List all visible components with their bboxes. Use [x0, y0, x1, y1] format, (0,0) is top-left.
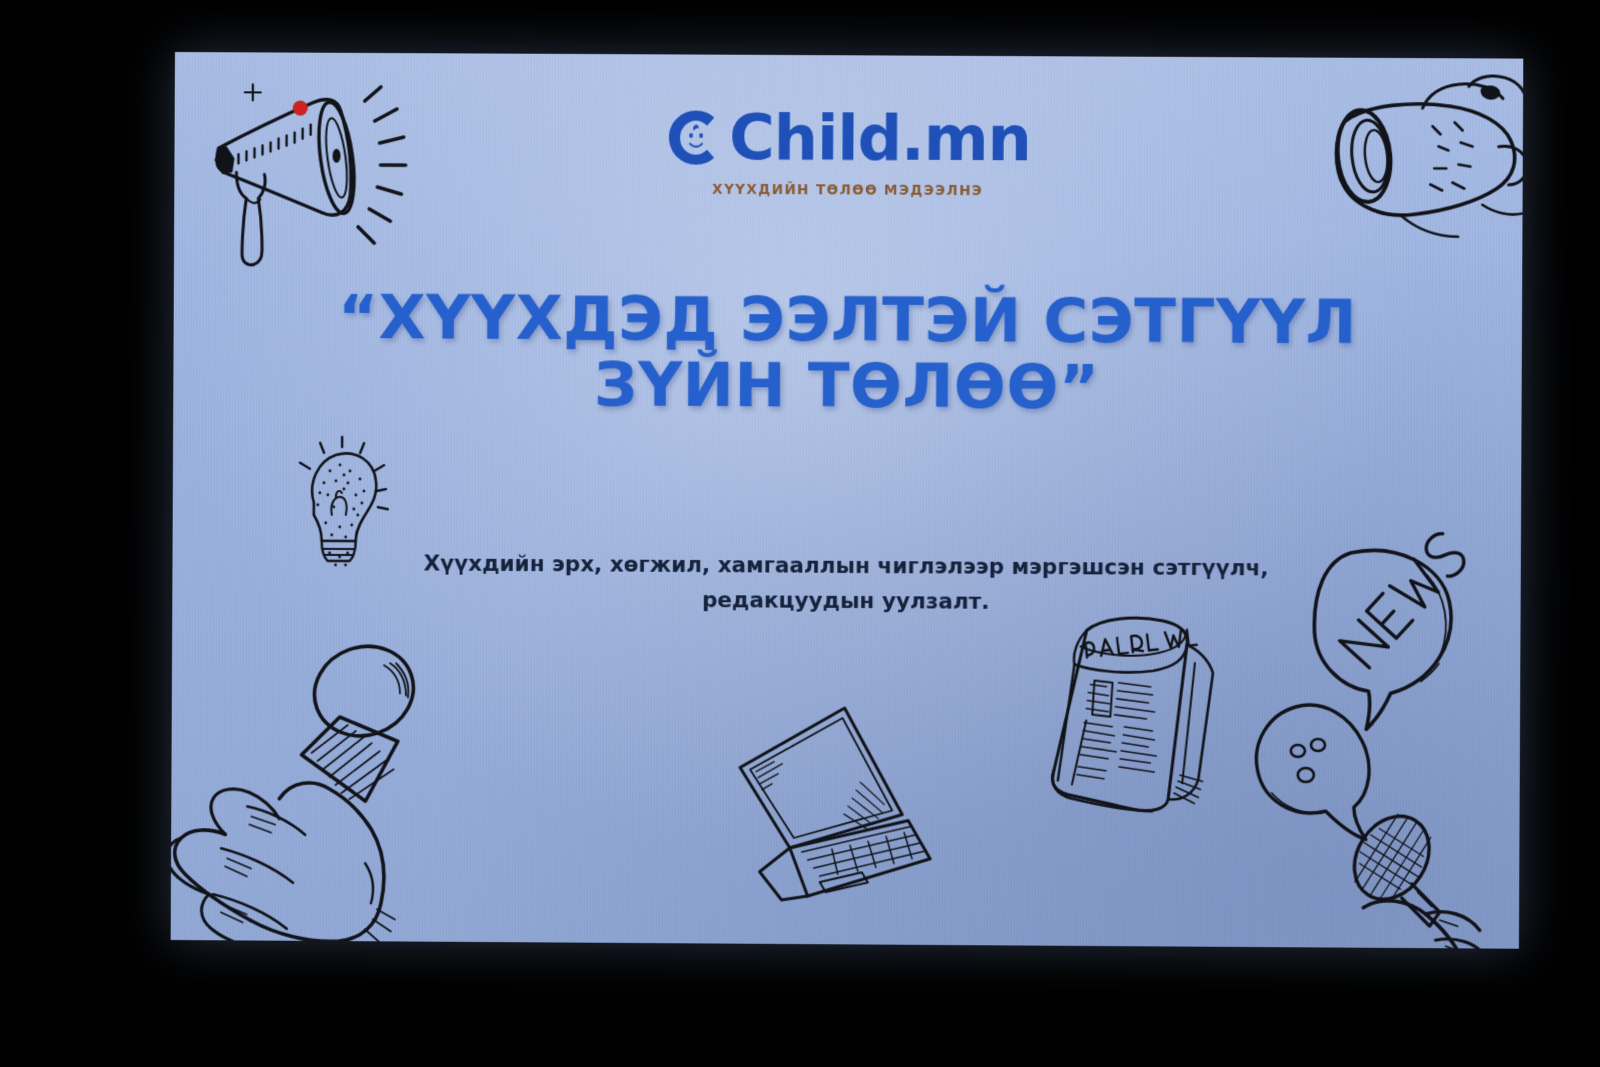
- brand-tagline: ХҮҮХДИЙН ТӨЛӨӨ МЭДЭЭЛНЭ: [174, 179, 1522, 202]
- baby-face-in-c-icon: [665, 106, 727, 168]
- logo-wordmark: Child.mn: [729, 107, 1031, 171]
- logo-red-dot: [293, 101, 308, 116]
- logo-lockup: Child.mn: [665, 106, 1031, 170]
- slide-headline: “ХҮҮХДЭД ЭЭЛТЭЙ СЭТГҮҮЛ ЗҮЙН ТӨЛӨӨ”: [233, 284, 1462, 423]
- slide-subtitle: Хүүхдийн эрх, хөгжил, хамгааллын чиглэлэ…: [372, 547, 1320, 622]
- hand-holding-reporter-mic-icon: [171, 612, 453, 949]
- screenshot-stage: Child.mn ХҮҮХДИЙН ТӨЛӨӨ МЭДЭЭЛНЭ “ХҮҮХДЭ…: [0, 0, 1600, 1067]
- projection-screen: Child.mn ХҮҮХДИЙН ТӨЛӨӨ МЭДЭЭЛНЭ “ХҮҮХДЭ…: [171, 52, 1524, 949]
- rolled-newspaper-icon: [1028, 602, 1235, 819]
- slide-content: Child.mn ХҮҮХДИЙН ТӨЛӨӨ МЭДЭЭЛНЭ “ХҮҮХДЭ…: [171, 52, 1524, 949]
- laptop-icon: [711, 685, 943, 917]
- brand-logo: Child.mn ХҮҮХДИЙН ТӨЛӨӨ МЭДЭЭЛНЭ: [174, 104, 1523, 202]
